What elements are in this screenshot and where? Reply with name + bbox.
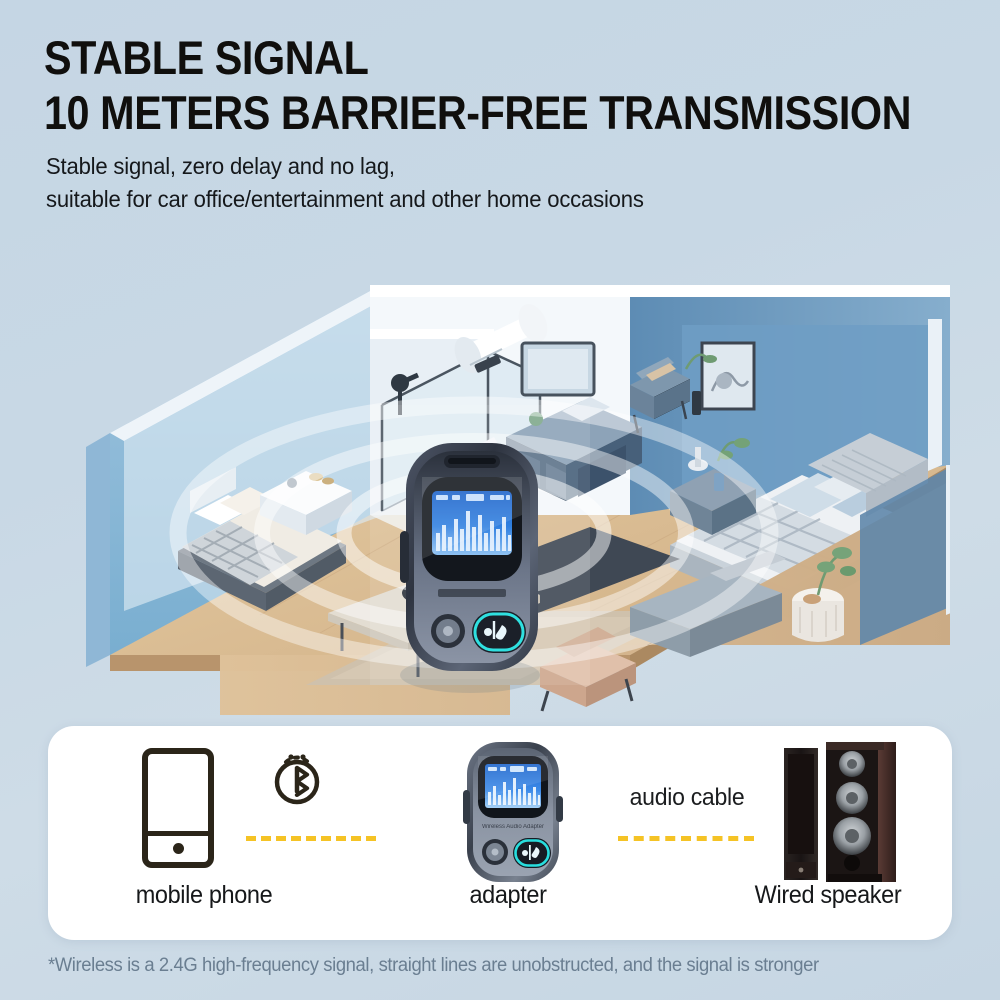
connection-chain-card: Wireless Audio Adapter audio cable xyxy=(48,726,952,940)
headline-line-2: 10 METERS BARRIER-FREE TRANSMISSION xyxy=(44,89,836,138)
chain-labels-row: mobile phone adapter Wired speaker xyxy=(48,881,952,915)
adapter-device-scene xyxy=(400,443,540,693)
bluetooth-link-dashed-line xyxy=(246,836,376,841)
label-adapter: adapter xyxy=(414,881,602,910)
adapter-brand-text: Wireless Audio Adapter xyxy=(482,824,544,830)
isometric-home-scene xyxy=(70,215,950,715)
chain-node-wired-speaker xyxy=(698,736,966,891)
label-mobile-phone: mobile phone xyxy=(86,881,323,910)
speaker-icon xyxy=(778,736,918,886)
adapter-icon: Wireless Audio Adapter xyxy=(461,738,565,886)
headline-line-1: STABLE SIGNAL xyxy=(44,34,836,83)
phone-icon xyxy=(142,748,214,868)
bluetooth-icon xyxy=(266,746,328,808)
phone-home-button-icon xyxy=(173,843,184,854)
label-wired-speaker: Wired speaker xyxy=(696,881,959,910)
headline-block: STABLE SIGNAL 10 METERS BARRIER-FREE TRA… xyxy=(44,34,944,138)
chain-node-adapter: Wireless Audio Adapter xyxy=(418,738,608,891)
product-marketing-page: STABLE SIGNAL 10 METERS BARRIER-FREE TRA… xyxy=(0,0,1000,1000)
subtitle-text: Stable signal, zero delay and no lag, su… xyxy=(46,150,644,215)
phone-divider xyxy=(148,831,208,836)
footnote-text: *Wireless is a 2.4G high-frequency signa… xyxy=(48,955,940,977)
